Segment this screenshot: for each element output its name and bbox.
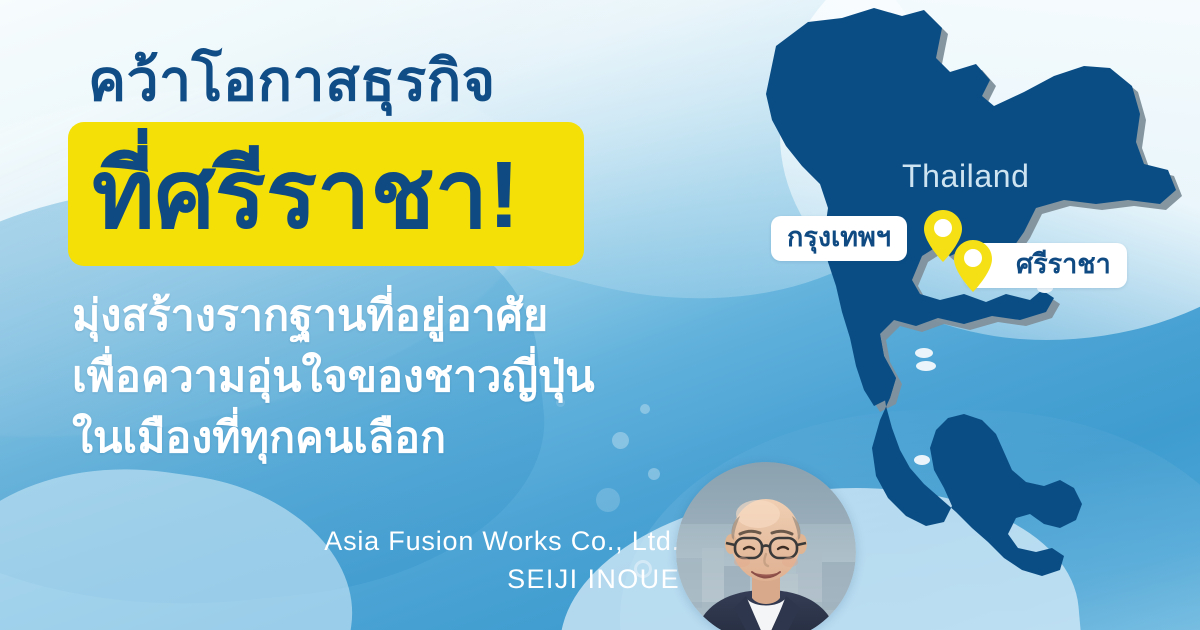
body-line-1: มุ่งสร้างรากฐานที่อยู่อาศัย (72, 286, 595, 347)
body-copy: มุ่งสร้างรากฐานที่อยู่อาศัย เพื่อความอุ่… (72, 286, 595, 469)
person-name: SEIJI INOUE (60, 560, 680, 598)
company-name: Asia Fusion Works Co., Ltd. (60, 522, 680, 560)
map-label-bangkok[interactable]: กรุงเทพฯ (771, 216, 907, 261)
text-content: คว้าโอกาสธุรกิจ ที่ศรีราชา! มุ่งสร้างราก… (0, 0, 700, 630)
promo-banner: Thailand กรุงเทพฯ ศรีราชา คว้าโอกาสธุรกิ… (0, 0, 1200, 630)
map-country-label: Thailand (902, 158, 1030, 195)
headline-highlight-text: ที่ศรีราชา! (92, 131, 582, 259)
body-line-3: ในเมืองที่ทุกคนเลือก (72, 408, 595, 469)
avatar (676, 462, 856, 630)
signature-block: Asia Fusion Works Co., Ltd. SEIJI INOUE (60, 522, 680, 599)
map-pin-icon[interactable] (954, 240, 992, 292)
headline-top-line: คว้าโอกาสธุรกิจ (88, 52, 496, 112)
body-line-2: เพื่อความอุ่นใจของชาวญี่ปุ่น (72, 347, 595, 408)
